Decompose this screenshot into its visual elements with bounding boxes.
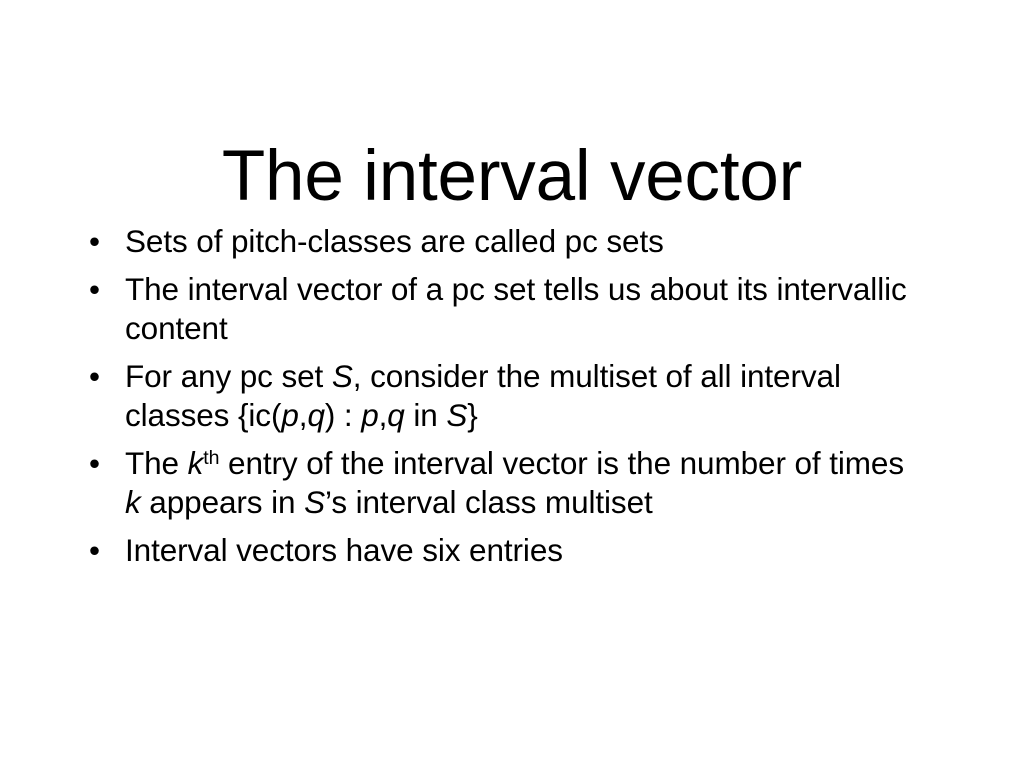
list-item-text: The interval vector of a pc set tells us…: [125, 270, 916, 349]
list-item: •For any pc set S, consider the multiset…: [86, 357, 916, 436]
list-item: •The interval vector of a pc set tells u…: [86, 270, 916, 349]
list-item-text: The kth entry of the interval vector is …: [125, 444, 916, 523]
list-item: •The kth entry of the interval vector is…: [86, 444, 916, 523]
page-title: The interval vector: [0, 140, 1024, 215]
bullet-icon: •: [89, 444, 107, 484]
list-item: •Sets of pitch-classes are called pc set…: [86, 222, 916, 262]
list-item-text: For any pc set S, consider the multiset …: [125, 357, 916, 436]
slide: The interval vector •Sets of pitch-class…: [0, 0, 1024, 768]
bullet-icon: •: [89, 531, 107, 571]
bullet-icon: •: [89, 357, 107, 397]
list-item-text: Sets of pitch-classes are called pc sets: [125, 222, 916, 262]
list-item-text: Interval vectors have six entries: [125, 531, 916, 571]
bullet-icon: •: [89, 222, 107, 262]
list-item: •Interval vectors have six entries: [86, 531, 916, 571]
bullet-icon: •: [89, 270, 107, 310]
bullet-list: •Sets of pitch-classes are called pc set…: [86, 222, 916, 570]
